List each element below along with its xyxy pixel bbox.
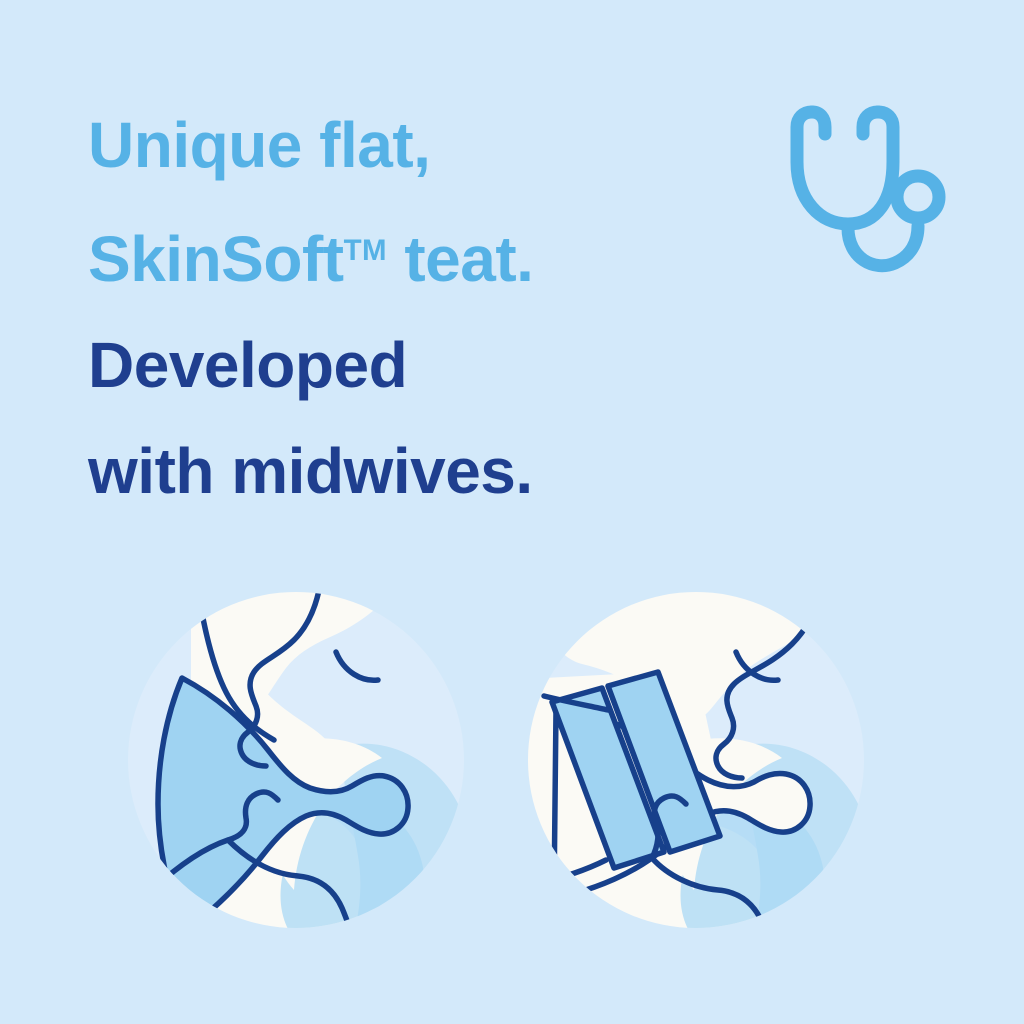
headline-line-2-suffix: teat.	[387, 223, 533, 295]
headline-line-3: Developed	[88, 312, 728, 418]
illustration-row	[0, 560, 1024, 980]
headline-brand-skinsoft: SkinSoft	[88, 223, 344, 295]
illustration-compressed-teat	[496, 560, 896, 960]
headline-line-4: with midwives.	[88, 418, 728, 524]
trademark-symbol: TM	[344, 234, 388, 267]
illustration-flat-teat	[96, 560, 496, 960]
headline-line-2: SkinSoftTM teat.	[88, 198, 728, 312]
headline-block: Unique flat, SkinSoftTM teat. Developed …	[88, 92, 728, 524]
advertisement-canvas: Unique flat, SkinSoftTM teat. Developed …	[0, 0, 1024, 1024]
headline-line-1: Unique flat,	[88, 92, 728, 198]
stethoscope-icon	[782, 96, 952, 286]
